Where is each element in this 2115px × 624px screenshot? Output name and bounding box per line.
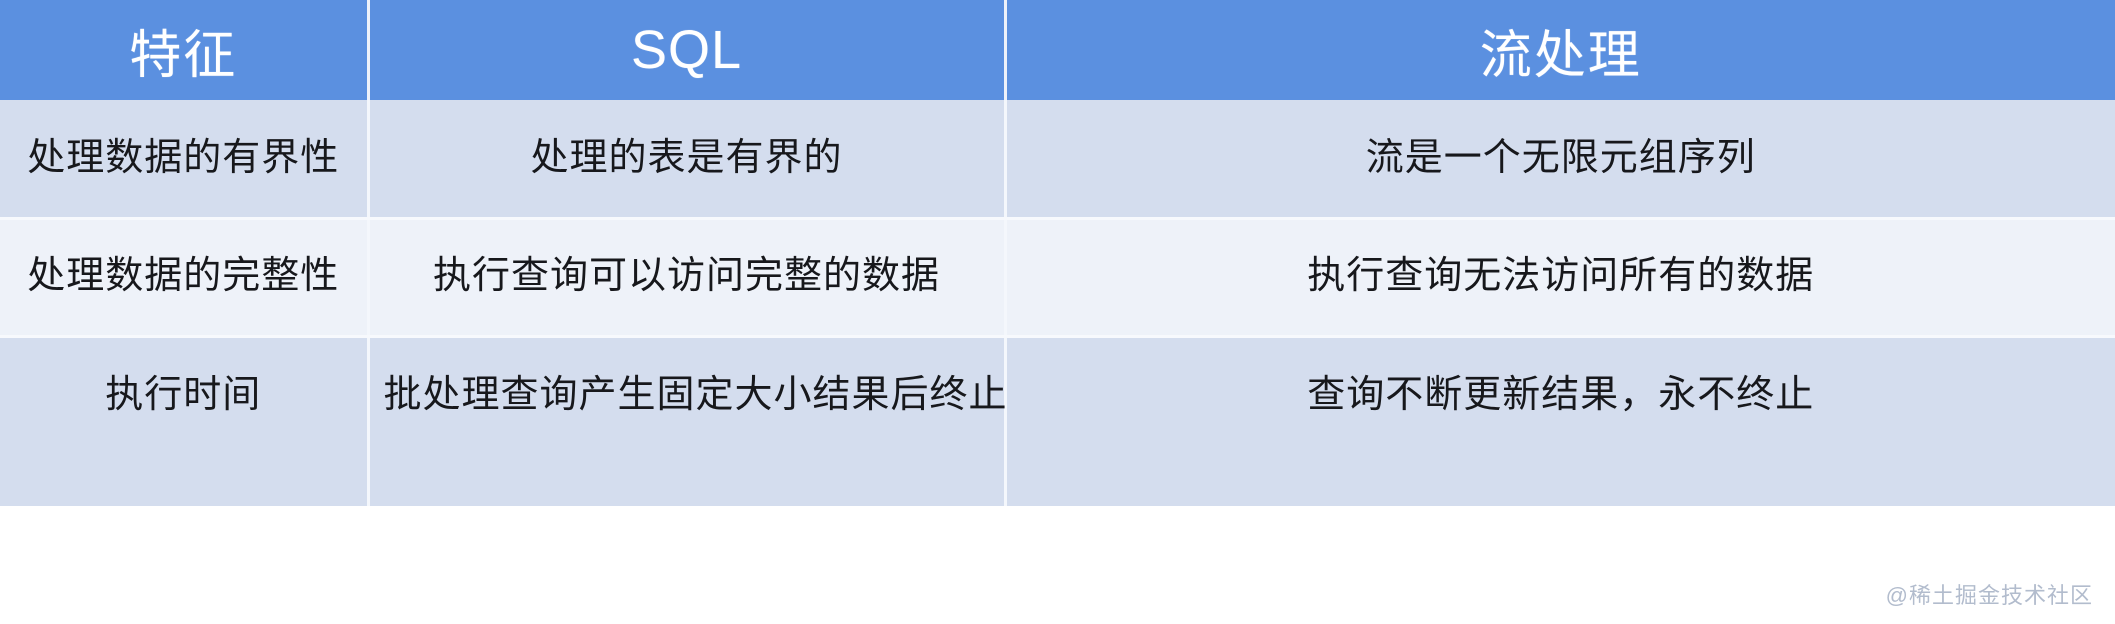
cell-text: 执行时间 [0, 372, 367, 420]
column-header-stream: 流处理 [1005, 0, 2115, 100]
table-body: 处理数据的有界性 处理的表是有界的 流是一个无限元组序列 处理数据的完整性 执行… [0, 100, 2115, 506]
cell-text: 处理数据的有界性 [0, 135, 367, 183]
comparison-table-container: 特征 SQL 流处理 处理数据的有界性 处理的表是有界的 流是一个无限元组序列 [0, 0, 2115, 624]
cell-sql: 处理的表是有界的 [368, 100, 1005, 218]
cell-text: 流是一个无限元组序列 [1007, 135, 2115, 183]
cell-feature: 处理数据的完整性 [0, 218, 368, 336]
table-row: 处理数据的有界性 处理的表是有界的 流是一个无限元组序列 [0, 100, 2115, 218]
cell-stream: 执行查询无法访问所有的数据 [1005, 218, 2115, 336]
table-row: 执行时间 批处理查询产生固定大小结果后终止 查询不断更新结果，永不终止 [0, 336, 2115, 506]
cell-text: 处理的表是有界的 [370, 135, 1004, 183]
cell-text: 处理数据的完整性 [0, 253, 367, 301]
watermark: @稀土掘金技术社区 [1886, 578, 2093, 610]
table-row: 处理数据的完整性 执行查询可以访问完整的数据 执行查询无法访问所有的数据 [0, 218, 2115, 336]
cell-sql: 执行查询可以访问完整的数据 [368, 218, 1005, 336]
table-header-row: 特征 SQL 流处理 [0, 0, 2115, 100]
column-header-feature: 特征 [0, 0, 368, 100]
cell-sql: 批处理查询产生固定大小结果后终止 [368, 336, 1005, 506]
cell-text: 查询不断更新结果，永不终止 [1007, 372, 2115, 420]
cell-feature: 执行时间 [0, 336, 368, 506]
cell-stream: 流是一个无限元组序列 [1005, 100, 2115, 218]
cell-text: 执行查询可以访问完整的数据 [370, 253, 1004, 301]
cell-feature: 处理数据的有界性 [0, 100, 368, 218]
cell-text: 批处理查询产生固定大小结果后终止 [370, 372, 1004, 420]
column-header-sql: SQL [368, 0, 1005, 100]
table-header: 特征 SQL 流处理 [0, 0, 2115, 100]
cell-text: 执行查询无法访问所有的数据 [1007, 253, 2115, 301]
sql-vs-stream-comparison-table: 特征 SQL 流处理 处理数据的有界性 处理的表是有界的 流是一个无限元组序列 [0, 0, 2115, 506]
cell-stream: 查询不断更新结果，永不终止 [1005, 336, 2115, 506]
